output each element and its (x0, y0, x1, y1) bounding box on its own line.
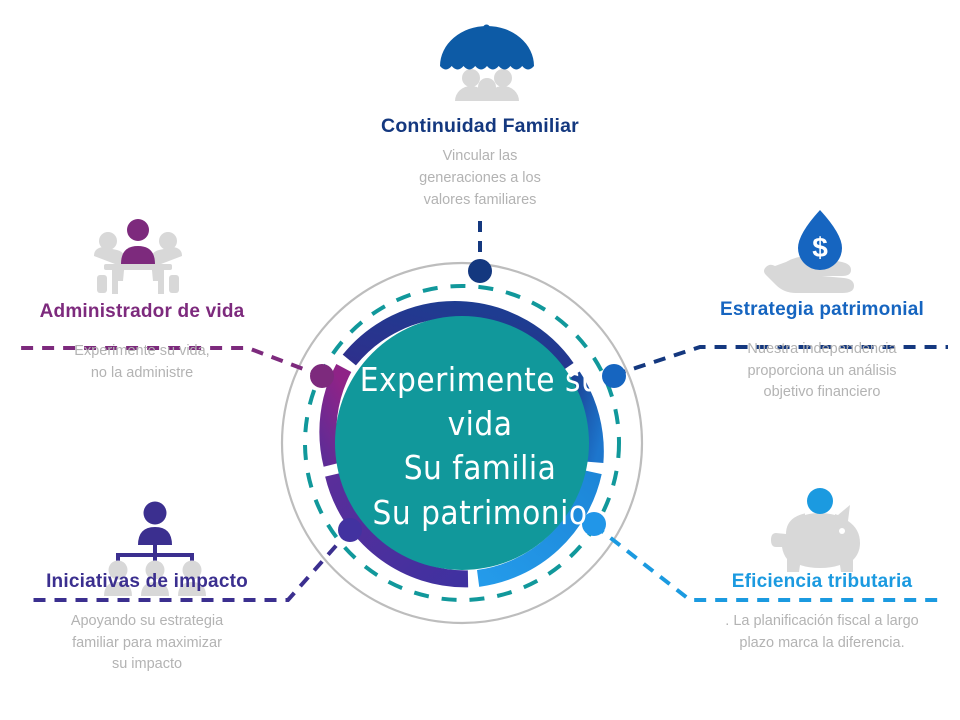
node-desc-eficiencia: . La planificación fiscal a largo plazo … (686, 611, 958, 655)
node-estrategia-patrimonial[interactable]: Estrategia patrimonial Nuestra independe… (686, 300, 958, 404)
center-line-1: Experimente su vida (330, 358, 630, 446)
node-desc-administrador: Experimente su vida, no la administre (6, 341, 278, 385)
node-title-eficiencia: Eficiencia tributaria (686, 572, 958, 593)
piggy-bank-icon (771, 488, 860, 572)
center-wordmark: Experimente su vida Su familia Su patrim… (330, 358, 630, 535)
svg-text:$: $ (812, 232, 828, 263)
node-desc-continuidad: Vincular las generaciones a los valores … (330, 146, 630, 211)
node-desc-iniciativas: Apoyando su estrategia familiar para max… (6, 611, 288, 676)
node-continuidad-familiar[interactable]: Continuidad Familiar Vincular las genera… (330, 116, 630, 212)
node-desc-estrategia: Nuestra independencia proporciona un aná… (686, 339, 958, 404)
umbrella-family-icon (440, 25, 534, 102)
node-eficiencia-tributaria[interactable]: Eficiencia tributaria . La planificación… (686, 572, 958, 654)
node-title-continuidad: Continuidad Familiar (330, 116, 630, 137)
node-title-estrategia: Estrategia patrimonial (686, 300, 958, 321)
node-title-iniciativas: Iniciativas de impacto (6, 572, 288, 593)
meeting-table-icon (94, 219, 182, 294)
node-administrador-de-vida[interactable]: Administrador de vida Experimente su vid… (6, 302, 278, 384)
node-dot-continuidad[interactable] (468, 259, 492, 283)
node-title-administrador: Administrador de vida (6, 302, 278, 323)
infographic-canvas: $ (0, 0, 960, 720)
node-iniciativas-de-impacto[interactable]: Iniciativas de impacto Apoyando su estra… (6, 572, 288, 676)
center-line-3: Su patrimonio (330, 491, 630, 535)
center-line-2: Su familia (330, 446, 630, 490)
hand-money-drop-icon: $ (764, 210, 854, 293)
